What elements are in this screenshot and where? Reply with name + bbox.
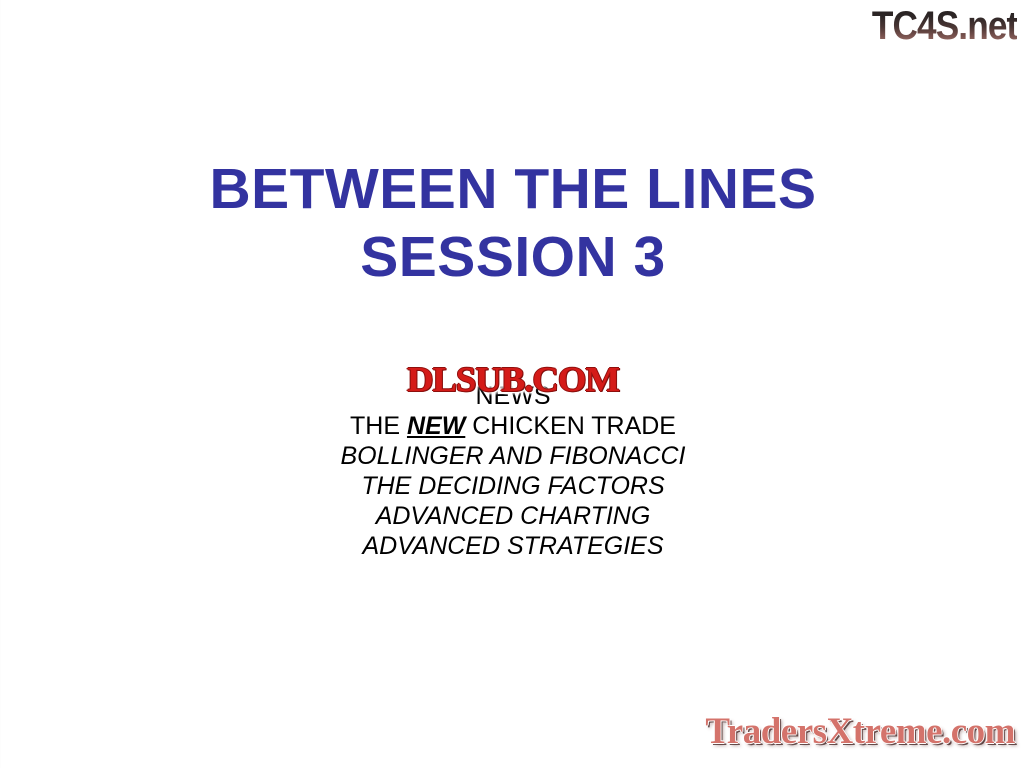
agenda-item-advanced-strategies: ADVANCED STRATEGIES — [1, 531, 1024, 561]
tc4s-watermark: TC4S.net — [871, 4, 1017, 48]
tradersxtreme-watermark: TradersXtreme.com — [705, 712, 1015, 752]
agenda-item-deciding-factors: THE DECIDING FACTORS — [1, 471, 1024, 501]
title-line-2: SESSION 3 — [1, 223, 1024, 291]
agenda-item-advanced-charting: ADVANCED CHARTING — [1, 501, 1024, 531]
agenda-item-chicken-trade: THE NEW CHICKEN TRADE — [1, 411, 1024, 441]
agenda-item-news: NEWS — [1, 381, 1024, 411]
agenda-item-bollinger-fibonacci: BOLLINGER AND FIBONACCI — [1, 441, 1024, 471]
agenda-list: NEWS THE NEW CHICKEN TRADE BOLLINGER AND… — [1, 381, 1024, 561]
agenda-item-chicken-trade-emphasis: NEW — [407, 412, 465, 440]
agenda-item-chicken-trade-suffix: CHICKEN TRADE — [465, 412, 676, 440]
presentation-slide: TC4S.net BETWEEN THE LINES SESSION 3 NEW… — [0, 0, 1024, 768]
agenda-item-chicken-trade-prefix: THE — [350, 412, 407, 440]
page-title: BETWEEN THE LINES SESSION 3 — [1, 155, 1024, 291]
title-line-1: BETWEEN THE LINES — [1, 155, 1024, 223]
